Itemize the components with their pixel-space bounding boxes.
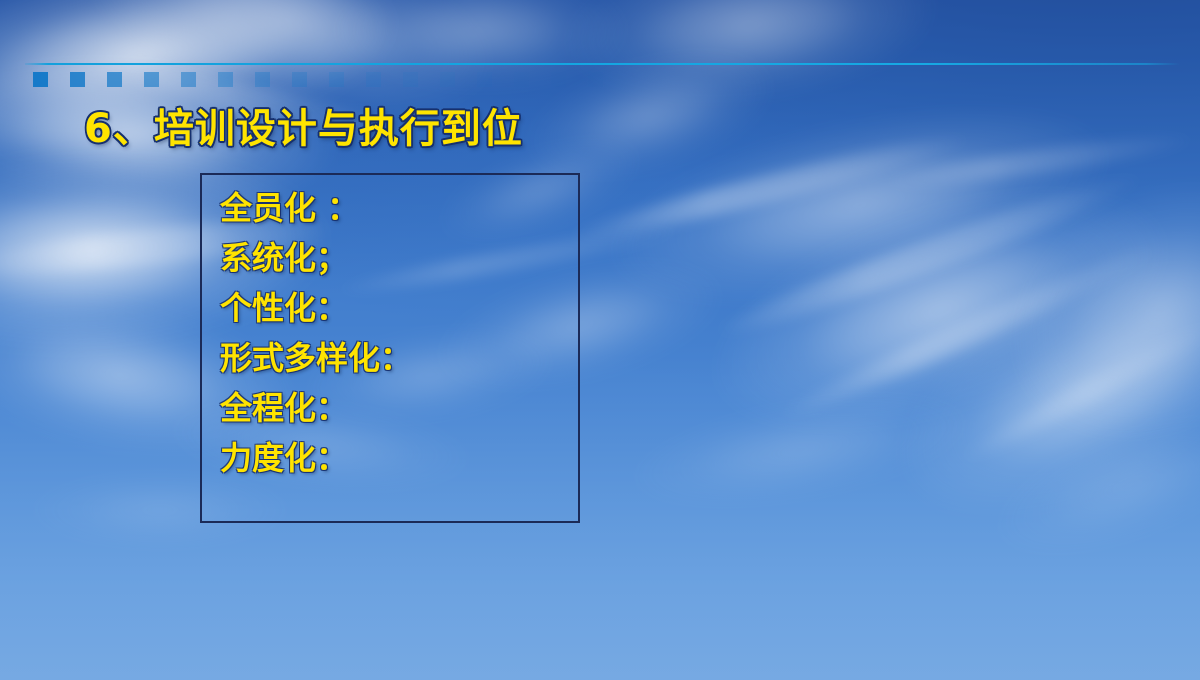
content-box-line: 全程化：: [220, 383, 574, 433]
content-box-line: 个性化：: [220, 283, 574, 333]
header-square-dot: [181, 72, 196, 87]
header-square-dot: [588, 72, 603, 87]
header-square-dot: [70, 72, 85, 87]
header-square-dot: [218, 72, 233, 87]
header-square-dot: [403, 72, 418, 87]
page-title: 6、培训设计与执行到位: [84, 96, 523, 154]
header-square-dot: [477, 72, 492, 87]
content-box-line: 全员化 ：: [220, 183, 574, 233]
header-square-dot: [514, 72, 529, 87]
header-square-dot: [144, 72, 159, 87]
header-square-dot: [366, 72, 381, 87]
header-square-dot: [107, 72, 122, 87]
content-box: 全员化 ：系统化；个性化：形式多样化：全程化：力度化：: [200, 173, 580, 523]
header-square-dot: [551, 72, 566, 87]
header-square-dot: [329, 72, 344, 87]
header-square-dots: [33, 72, 613, 87]
header-square-dot: [440, 72, 455, 87]
header-square-dot: [33, 72, 48, 87]
header-divider-line: [25, 63, 1180, 65]
content-box-line: 力度化：: [220, 433, 574, 483]
slide-canvas: 6、培训设计与执行到位 全员化 ：系统化；个性化：形式多样化：全程化：力度化：: [0, 0, 1200, 680]
header-square-dot: [292, 72, 307, 87]
content-box-line: 形式多样化：: [220, 333, 574, 383]
content-box-line: 系统化；: [220, 233, 574, 283]
content-box-lines: 全员化 ：系统化；个性化：形式多样化：全程化：力度化：: [220, 183, 574, 483]
header-square-dot: [255, 72, 270, 87]
